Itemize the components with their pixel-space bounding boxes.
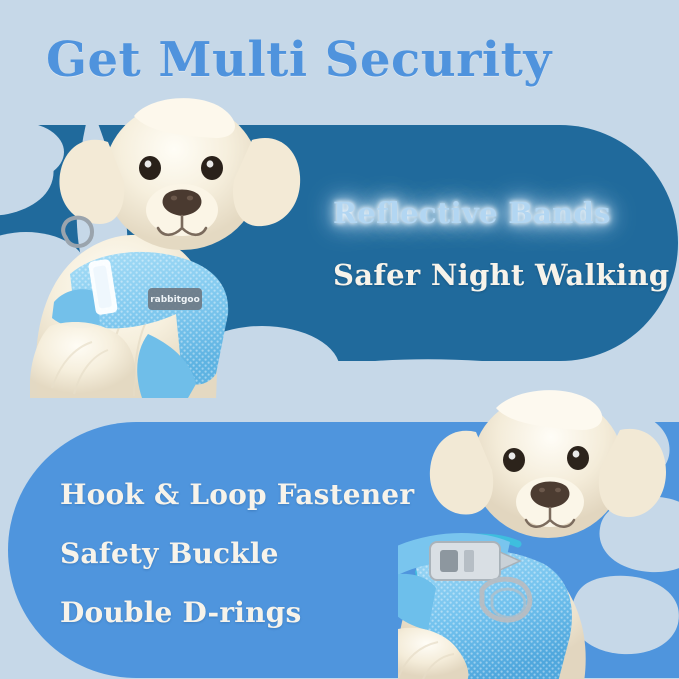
page-title: Get Multi Security [46, 32, 552, 88]
dog-photo-reflective-harness: rabbitgoo [30, 88, 322, 398]
feature-safety-buckle: Safety Buckle [60, 537, 414, 570]
product-feature-poster: Get Multi Security [0, 0, 679, 679]
feature-hook-loop-fastener: Hook & Loop Fastener [60, 478, 414, 511]
bottom-feature-text-group: Hook & Loop Fastener Safety Buckle Doubl… [60, 478, 414, 629]
feature-reflective-bands: Reflective Bands [333, 196, 669, 230]
feature-double-d-rings: Double D-rings [60, 596, 414, 629]
dog-photo-buckle-closeup [398, 382, 679, 679]
svg-text:rabbitgoo: rabbitgoo [150, 295, 200, 305]
feature-safer-night-walking: Safer Night Walking [333, 258, 669, 292]
brand-label-patch: rabbitgoo [148, 288, 202, 310]
top-feature-text-group: Reflective Bands Safer Night Walking [333, 196, 669, 292]
d-ring-icon [63, 218, 92, 246]
